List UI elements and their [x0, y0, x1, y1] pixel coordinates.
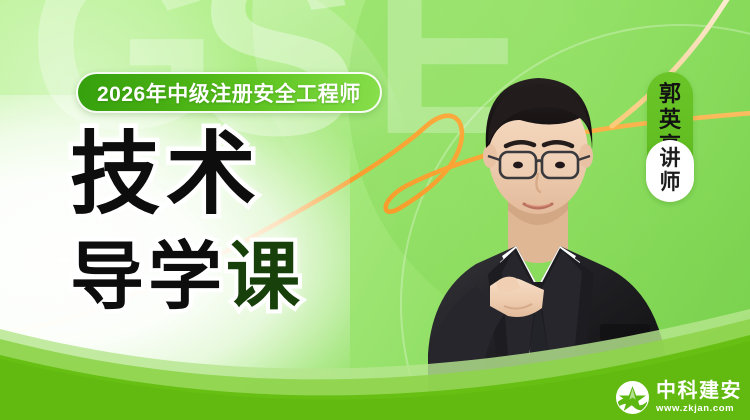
- headline-line-2: 导学课: [70, 240, 304, 314]
- instructor-name-char-1: 郭: [659, 81, 681, 107]
- headline-line-1: 技术: [70, 130, 304, 220]
- course-promo-banner: G S E: [0, 0, 750, 420]
- brand-text-block: 中科建安 www.zkjan.com: [656, 381, 742, 414]
- brand-url: www.zkjan.com: [656, 404, 742, 414]
- watermark-letter-g: G: [28, 0, 213, 139]
- headline-line-2-black: 导学: [70, 235, 226, 318]
- course-badge-label: 2026年中级注册安全工程师: [97, 78, 361, 108]
- brand-name: 中科建安: [656, 381, 742, 401]
- course-badge: 2026年中级注册安全工程师: [76, 72, 382, 113]
- brand-logo: 中科建安 www.zkjan.com: [616, 381, 742, 414]
- headline-line-2-green: 课: [226, 235, 304, 318]
- instructor-name-char-2: 英: [659, 107, 681, 133]
- instructor-role-char-1: 讲: [660, 147, 681, 171]
- headline-block: 技术 导学课: [70, 130, 304, 314]
- instructor-role-badge: 讲 师: [646, 140, 694, 202]
- mountain-peak-circle-logo-icon: [616, 381, 649, 414]
- instructor-role-char-2: 师: [660, 171, 681, 195]
